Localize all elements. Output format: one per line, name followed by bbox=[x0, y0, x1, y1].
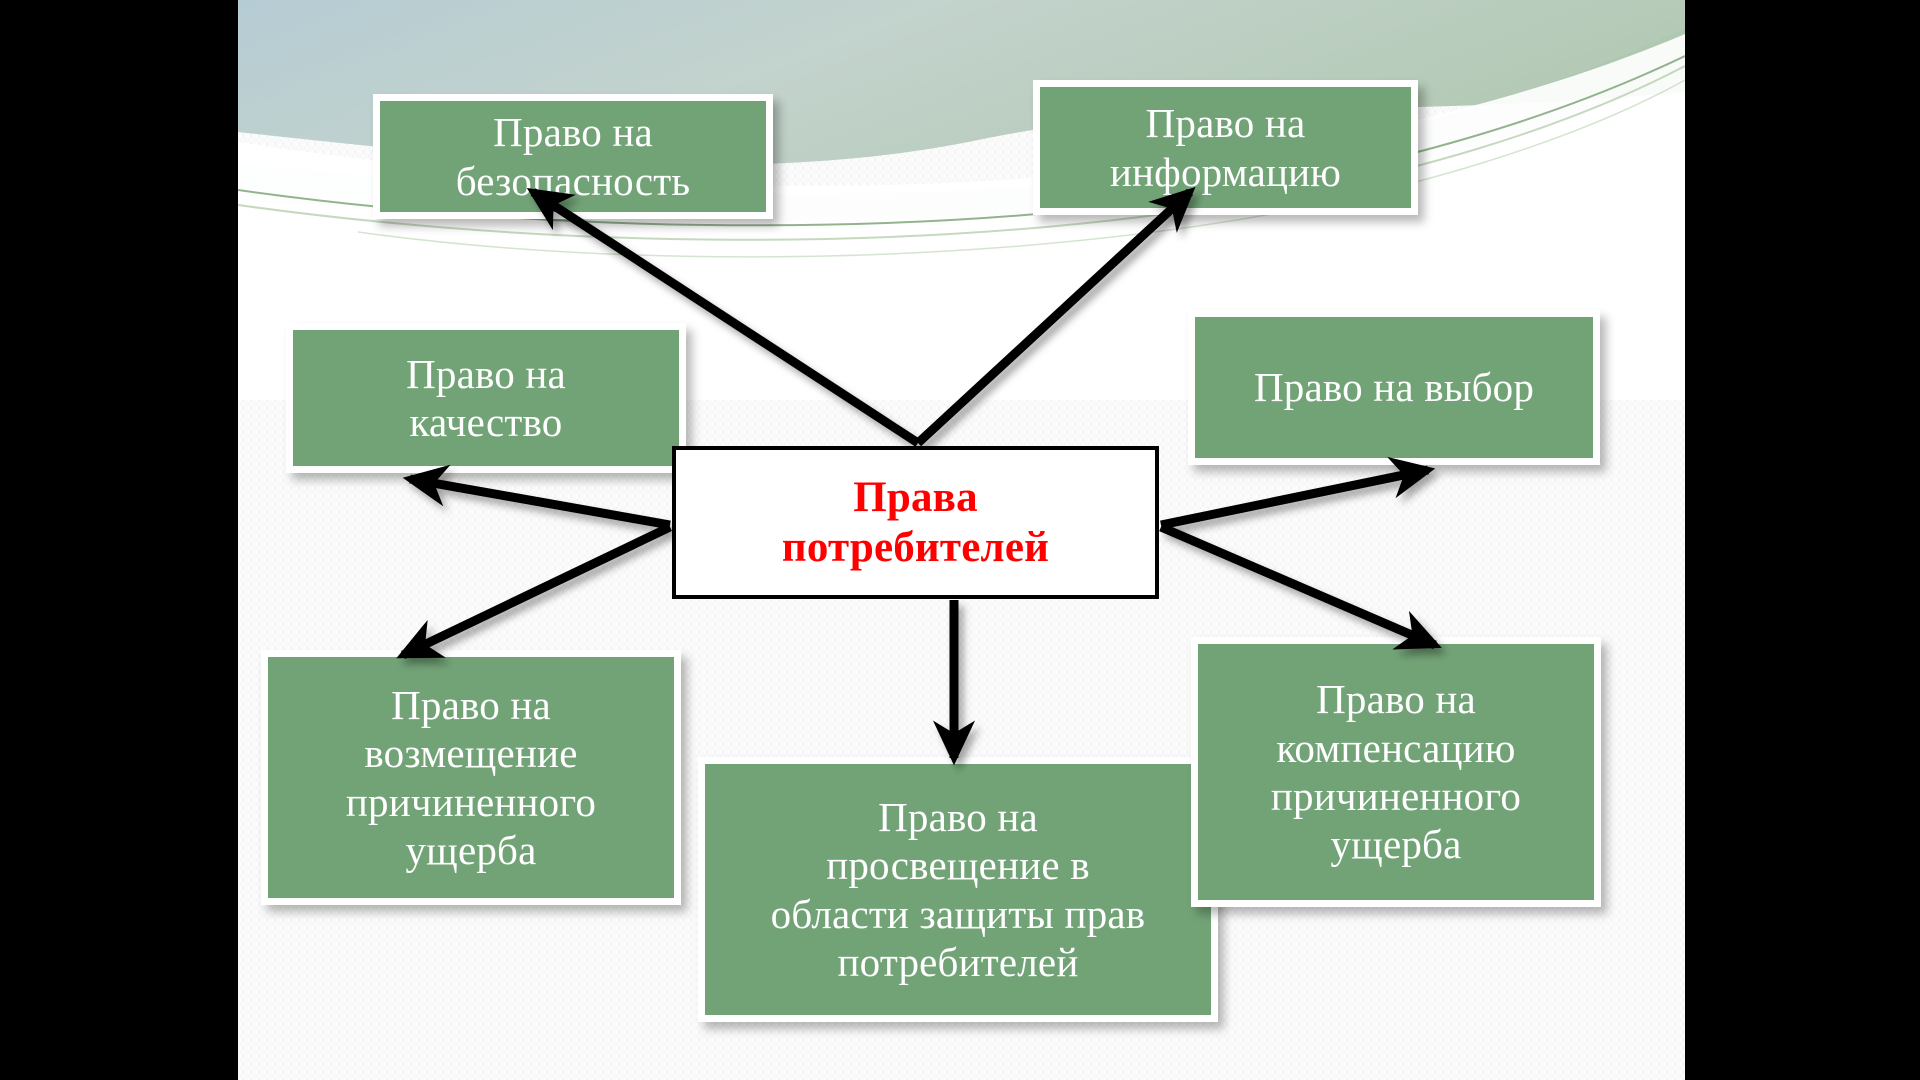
node-label-line: ущерба bbox=[1330, 821, 1461, 867]
node-right-to-safety[interactable]: Право набезопасность bbox=[373, 94, 773, 219]
node-label-quality: Право накачество bbox=[303, 350, 669, 447]
center-node-label: Права потребителей bbox=[686, 473, 1145, 571]
node-label-line: потребителей bbox=[838, 939, 1079, 985]
node-label-line: причиненного bbox=[1271, 773, 1521, 819]
node-label-line: Право на bbox=[406, 351, 566, 397]
node-label-redress: Право навозмещениепричиненногоущерба bbox=[278, 681, 664, 875]
node-right-to-information[interactable]: Право наинформацию bbox=[1033, 80, 1418, 215]
node-right-to-choice[interactable]: Право на выбор bbox=[1188, 310, 1600, 465]
node-label-line: Право на bbox=[1316, 676, 1476, 722]
node-label-line: информацию bbox=[1110, 149, 1341, 195]
node-label-line: Право на bbox=[1146, 100, 1306, 146]
node-label-line: Право на bbox=[493, 109, 653, 155]
node-label-information: Право наинформацию bbox=[1050, 99, 1401, 196]
letterbox-right bbox=[1685, 0, 1920, 1080]
center-node-line-2: потребителей bbox=[782, 524, 1049, 571]
node-label-line: ущерба bbox=[405, 827, 536, 873]
node-label-choice: Право на выбор bbox=[1205, 363, 1583, 411]
node-label-line: компенсацию bbox=[1276, 725, 1515, 771]
node-right-to-consumer-education[interactable]: Право напросвещение вобласти защиты прав… bbox=[698, 757, 1218, 1022]
node-label-line: причиненного bbox=[346, 779, 596, 825]
slide-stage: Право набезопасность Право наинформацию … bbox=[0, 0, 1920, 1080]
center-node-consumer-rights[interactable]: Права потребителей bbox=[672, 446, 1159, 599]
center-node-line-1: Права bbox=[853, 474, 978, 521]
node-label-line: безопасность bbox=[456, 158, 691, 204]
node-right-to-redress[interactable]: Право навозмещениепричиненногоущерба bbox=[261, 650, 681, 905]
letterbox-left bbox=[0, 0, 238, 1080]
node-right-to-compensation[interactable]: Право накомпенсациюпричиненногоущерба bbox=[1191, 637, 1601, 907]
slide-canvas: Право набезопасность Право наинформацию … bbox=[238, 0, 1685, 1080]
node-label-line: просвещение в bbox=[826, 842, 1090, 888]
node-label-line: Право на выбор bbox=[1254, 364, 1534, 410]
node-label-consumer-education: Право напросвещение вобласти защиты прав… bbox=[715, 793, 1201, 987]
node-label-safety: Право набезопасность bbox=[390, 108, 756, 205]
node-label-line: области защиты прав bbox=[771, 891, 1146, 937]
node-label-line: Право на bbox=[391, 682, 551, 728]
node-label-line: Право на bbox=[878, 794, 1038, 840]
node-label-line: возмещение bbox=[364, 730, 577, 776]
node-label-compensation: Право накомпенсациюпричиненногоущерба bbox=[1208, 675, 1584, 869]
node-right-to-quality[interactable]: Право накачество bbox=[286, 323, 686, 473]
node-label-line: качество bbox=[410, 399, 563, 445]
